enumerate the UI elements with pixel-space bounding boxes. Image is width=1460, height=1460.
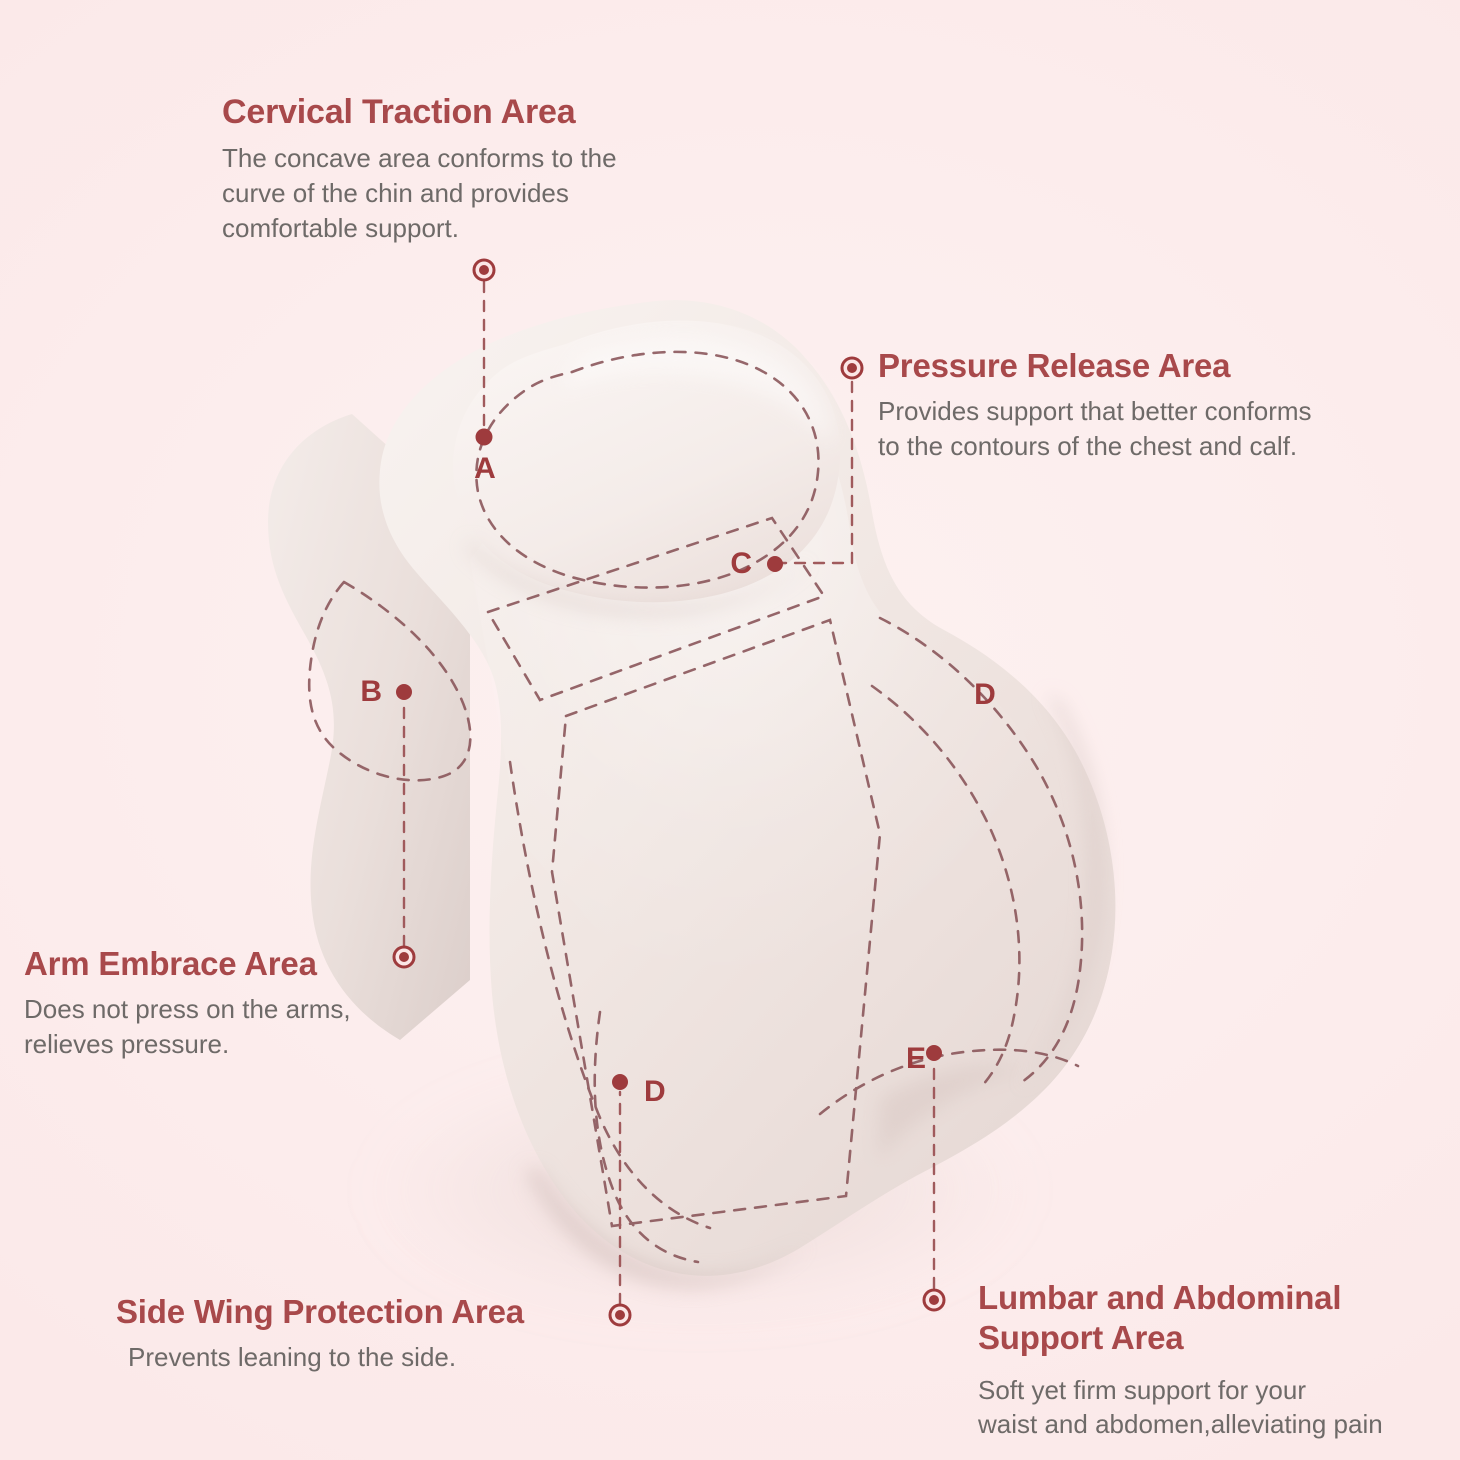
marker-label-c: C [730, 547, 752, 580]
anchor-ring-lumbar [924, 1290, 944, 1310]
marker-dot-a [476, 429, 493, 446]
callout-side-wing-protection: Side Wing Protection Area Prevents leani… [116, 1292, 616, 1375]
callout-title: Side Wing Protection Area [116, 1292, 616, 1332]
marker-dot-c [767, 556, 783, 572]
callout-lumbar-abdominal-support: Lumbar and Abdominal Support Area Soft y… [978, 1278, 1438, 1442]
marker-dot-e [926, 1045, 942, 1061]
callout-title: Arm Embrace Area [24, 944, 424, 984]
callout-title: Cervical Traction Area [222, 92, 692, 133]
marker-label-d-lower: D [644, 1075, 666, 1108]
marker-dot-d-lower [612, 1074, 628, 1090]
callout-description: Does not press on the arms, relieves pre… [24, 992, 424, 1061]
pillow-diagram: A B C D D E [0, 0, 1460, 1460]
infographic-canvas: A B C D D E [0, 0, 1460, 1460]
callout-pressure-release: Pressure Release Area Provides support t… [878, 346, 1398, 463]
callout-title: Pressure Release Area [878, 346, 1398, 386]
callout-arm-embrace: Arm Embrace Area Does not press on the a… [24, 944, 424, 1061]
marker-dot-b [396, 684, 412, 700]
callout-description: Soft yet firm support for your waist and… [978, 1373, 1438, 1442]
marker-label-a: A [474, 452, 496, 485]
marker-label-d-right: D [974, 678, 996, 711]
callout-description: Provides support that better conforms to… [878, 394, 1398, 463]
callout-cervical-traction: Cervical Traction Area The concave area … [222, 92, 692, 245]
callout-title: Lumbar and Abdominal Support Area [978, 1278, 1438, 1359]
marker-label-b: B [360, 675, 382, 708]
marker-label-e: E [906, 1042, 926, 1075]
anchor-ring-pressure [842, 358, 862, 378]
callout-description: Prevents leaning to the side. [128, 1340, 616, 1375]
anchor-ring-cervical [474, 260, 494, 280]
callout-description: The concave area conforms to the curve o… [222, 141, 692, 245]
